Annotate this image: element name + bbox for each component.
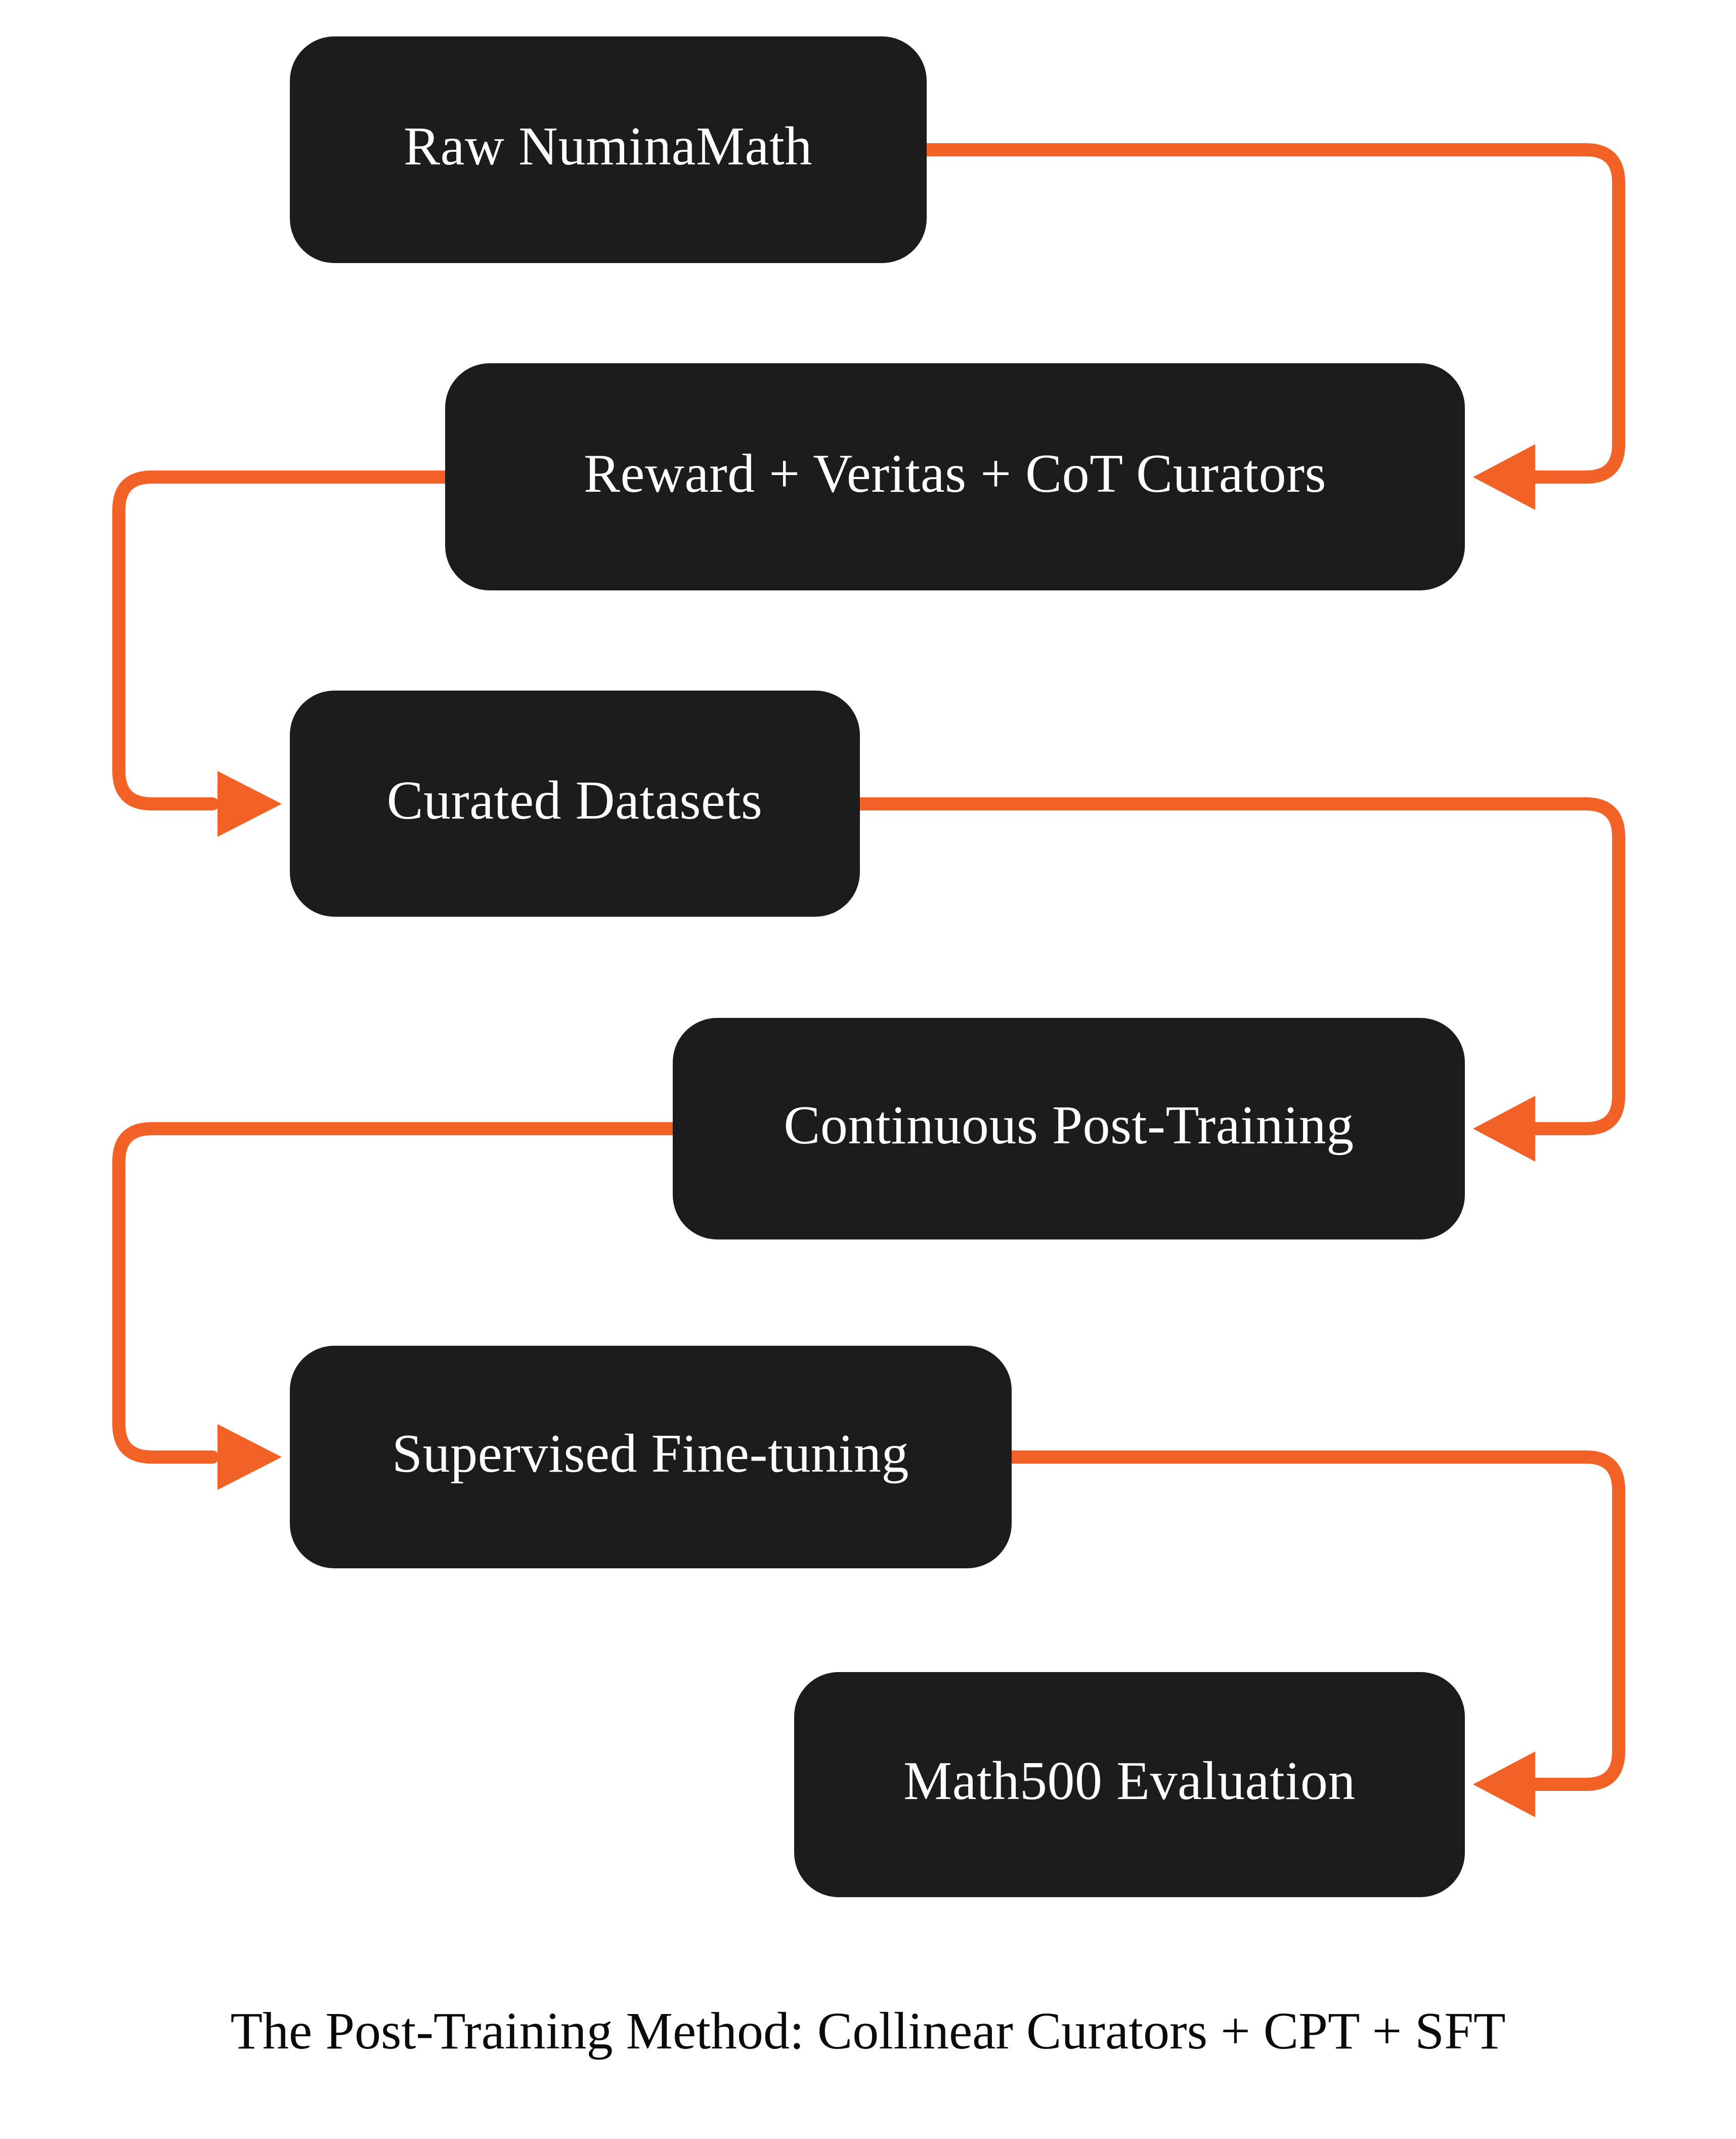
edge-sft-to-eval-arrowhead	[1473, 1751, 1535, 1817]
node-continuous-post-training-label: Continuous Post-Training	[784, 1095, 1354, 1156]
diagram-caption: The Post-Training Method: Collinear Cura…	[231, 2002, 1506, 2060]
node-supervised-fine-tuning-label: Supervised Fine-tuning	[392, 1424, 909, 1484]
flowchart-svg: Raw NuminaMath Reward + Veritas + CoT Cu…	[0, 0, 1736, 2139]
node-raw-numinamath[interactable]: Raw NuminaMath	[290, 36, 927, 263]
edge-curators-to-datasets-arrowhead	[218, 771, 282, 837]
flowchart-canvas: Raw NuminaMath Reward + Veritas + CoT Cu…	[0, 0, 1736, 2139]
node-supervised-fine-tuning[interactable]: Supervised Fine-tuning	[290, 1346, 1012, 1568]
node-continuous-post-training[interactable]: Continuous Post-Training	[673, 1018, 1465, 1239]
edge-raw-to-curators-arrowhead	[1473, 444, 1535, 510]
node-math500-evaluation[interactable]: Math500 Evaluation	[794, 1672, 1465, 1897]
node-raw-numinamath-label: Raw NuminaMath	[404, 116, 812, 177]
edge-cpt-to-sft-arrowhead	[218, 1424, 282, 1490]
node-curators-label: Reward + Veritas + CoT Curators	[584, 444, 1326, 504]
node-curators[interactable]: Reward + Veritas + CoT Curators	[445, 363, 1465, 590]
node-curated-datasets-label: Curated Datasets	[387, 771, 763, 831]
node-math500-evaluation-label: Math500 Evaluation	[903, 1751, 1356, 1811]
node-curated-datasets[interactable]: Curated Datasets	[290, 691, 860, 917]
edge-datasets-to-cpt-arrowhead	[1473, 1096, 1535, 1162]
